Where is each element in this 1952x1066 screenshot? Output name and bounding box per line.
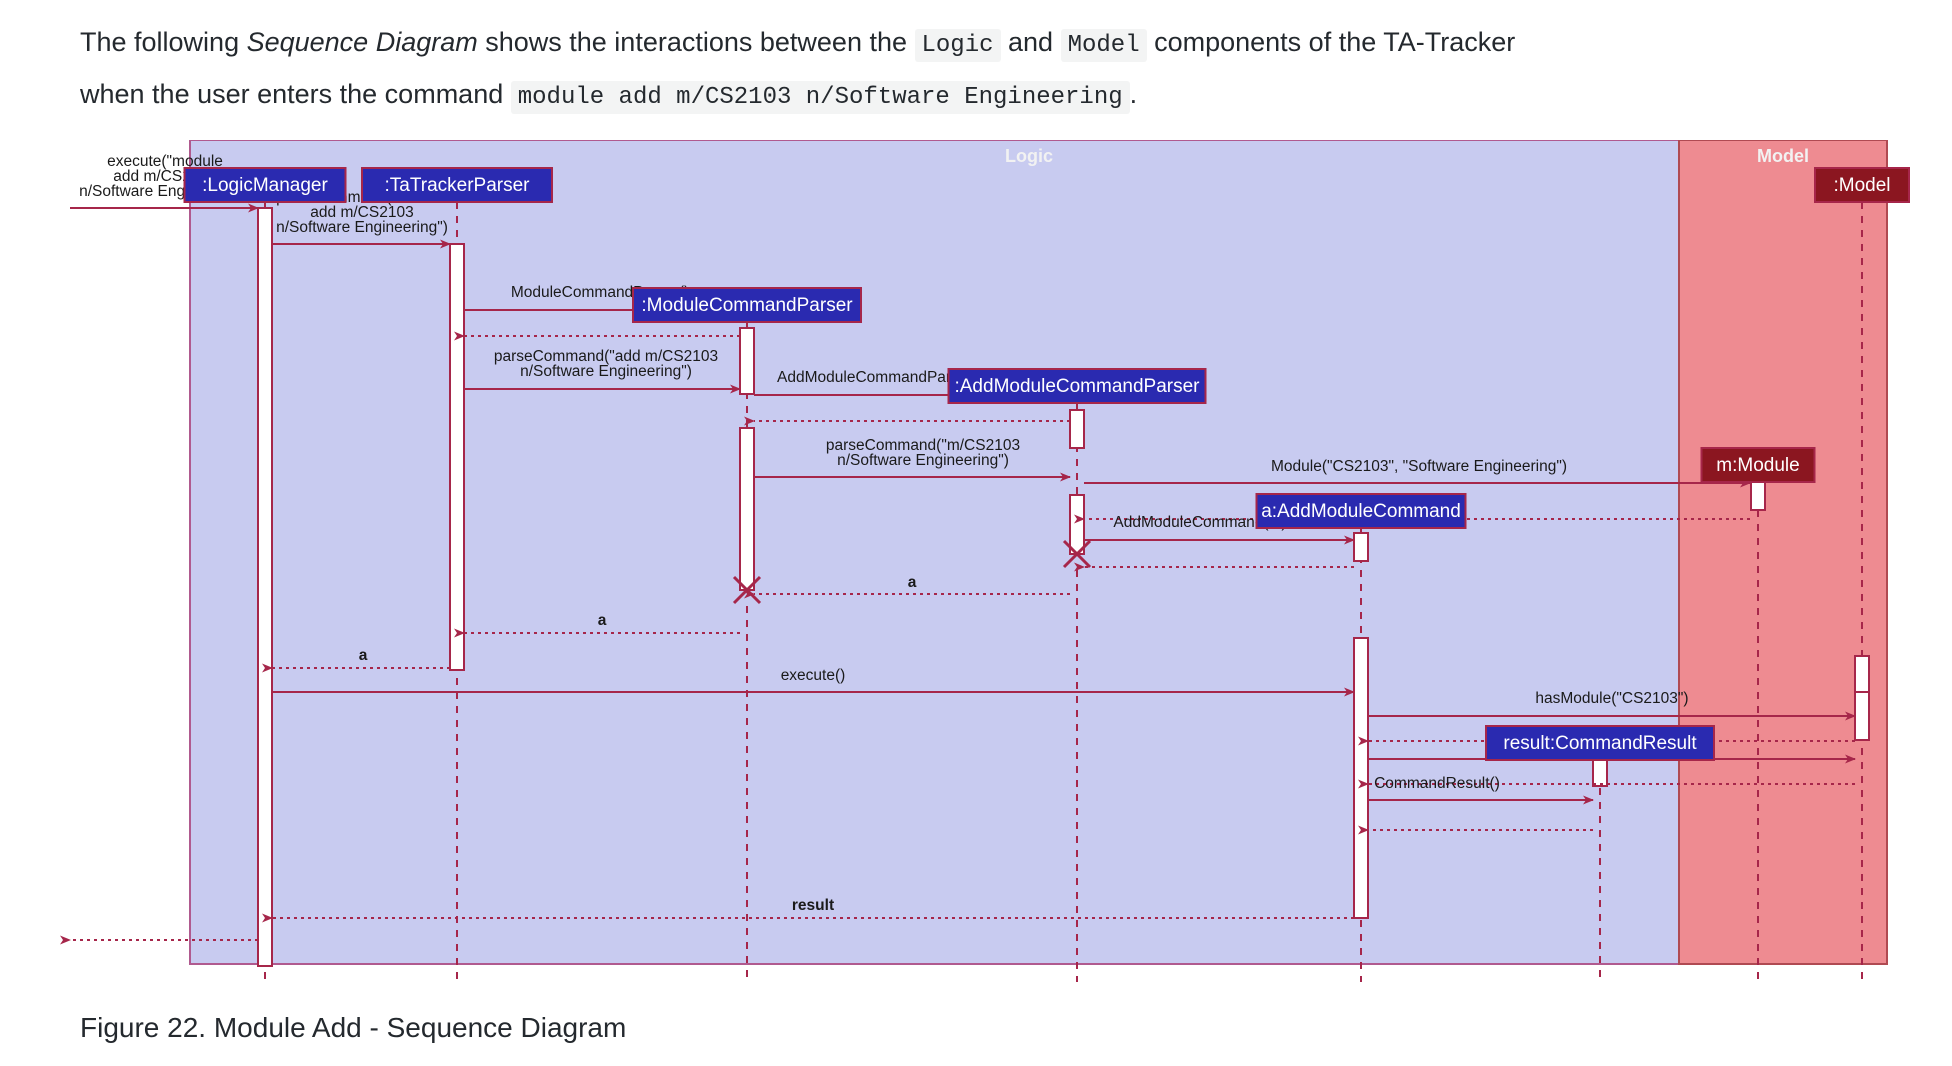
page-root: The following Sequence Diagram shows the…: [0, 0, 1952, 1066]
message-label-m23: result: [792, 897, 834, 914]
intro-text-4: components of the TA-Tracker: [1147, 27, 1516, 57]
figure-caption: Figure 22. Module Add - Sequence Diagram: [80, 1012, 626, 1044]
message-label-m21: CommandResult(): [1374, 775, 1500, 792]
activation-bar-addmodulecommand: [1354, 533, 1368, 561]
inline-code-logic: Logic: [915, 29, 1001, 62]
message-label-m14: a: [598, 612, 607, 629]
logic-group-title: Logic: [1005, 146, 1053, 166]
sequence-diagram-canvas: LogicModelexecute("moduleadd m/CS2103n/S…: [0, 140, 1952, 1000]
message-label-m16: execute(): [781, 667, 846, 684]
participant-label-tatrackerparser: :TaTrackerParser: [385, 175, 531, 196]
participant-label-commandresult: result:CommandResult: [1503, 733, 1697, 754]
participant-label-logicmanager: :LogicManager: [202, 175, 328, 196]
message-label-m13: a: [908, 574, 917, 591]
logic-group-box: [190, 140, 1868, 964]
activation-bar-modulecommandparser: [740, 328, 754, 394]
intro-text-3: and: [1001, 27, 1061, 57]
intro-text-2: shows the interactions between the: [478, 27, 915, 57]
participant-label-addmodulecommand: a:AddModuleCommand: [1261, 501, 1461, 522]
sequence-diagram: LogicModelexecute("moduleadd m/CS2103n/S…: [0, 140, 1952, 1000]
intro-text-1: The following: [80, 27, 247, 57]
intro-emphasis: Sequence Diagram: [247, 27, 478, 57]
message-label-m15: a: [359, 647, 368, 664]
message-label-m17: hasModule("CS2103"): [1535, 690, 1688, 707]
participant-label-module: m:Module: [1716, 455, 1799, 476]
model-group-title: Model: [1757, 146, 1809, 166]
intro-text-5: when the user enters the command: [80, 79, 511, 109]
participant-label-addmodulecommandparser: :AddModuleCommandParser: [954, 376, 1200, 397]
message-label-m9: Module("CS2103", "Software Engineering"): [1271, 458, 1567, 475]
activation-bar-addmodulecommandparser: [1070, 410, 1084, 448]
message-label-m8: parseCommand("m/CS2103n/Software Enginee…: [826, 437, 1020, 469]
message-label-m5: parseCommand("add m/CS2103n/Software Eng…: [494, 348, 718, 380]
activation-bar-logicmanager: [258, 208, 272, 966]
participant-label-modulecommandparser: :ModuleCommandParser: [641, 295, 853, 316]
intro-paragraph: The following Sequence Diagram shows the…: [80, 18, 1880, 122]
activation-bar-addmodulecommand: [1354, 638, 1368, 918]
intro-text-6: .: [1130, 79, 1138, 109]
model-group-box: [1679, 140, 1887, 964]
activation-bar-model: [1855, 692, 1869, 740]
activation-bar-commandresult: [1593, 760, 1607, 786]
participant-label-model: :Model: [1833, 175, 1890, 196]
activation-bar-module: [1751, 482, 1765, 510]
activation-bar-addmodulecommandparser: [1070, 495, 1084, 554]
activation-bar-modulecommandparser: [740, 428, 754, 590]
inline-code-model: Model: [1061, 29, 1147, 62]
activation-bar-tatrackerparser: [450, 244, 464, 670]
inline-code-command: module add m/CS2103 n/Software Engineeri…: [511, 81, 1130, 114]
